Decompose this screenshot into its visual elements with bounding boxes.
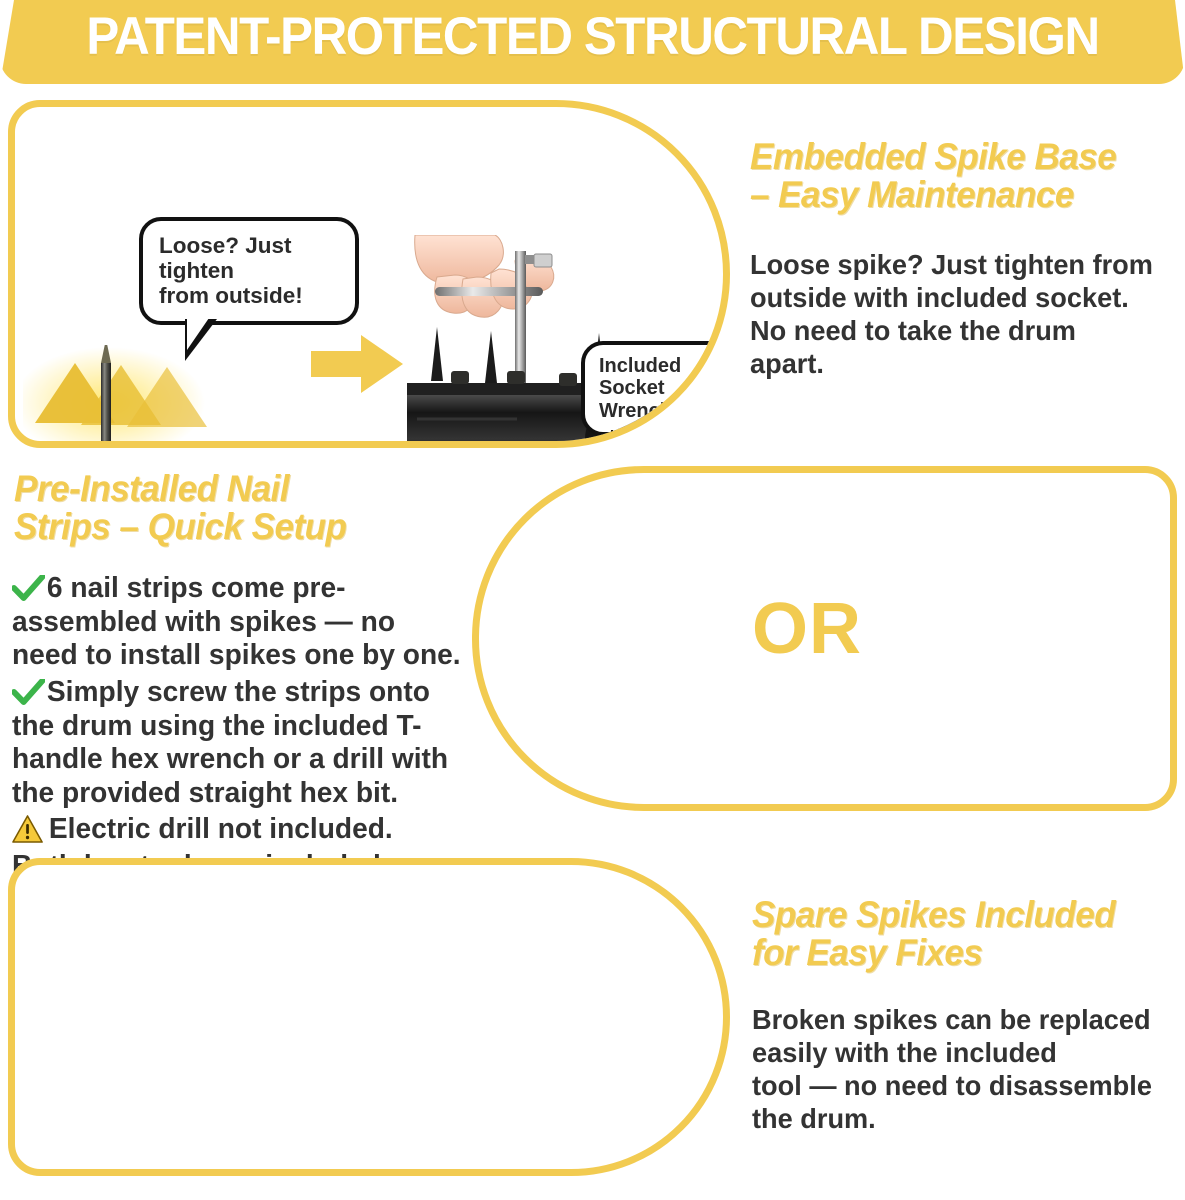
heading-line-2: – Easy Maintenance [750, 176, 1159, 214]
bubble-line-2: Wrench [599, 400, 719, 422]
heading-line-1: Embedded Spike Base [750, 138, 1159, 176]
heading-line-2: for Easy Fixes [752, 934, 1161, 972]
bubble-line-2: from outside! [159, 283, 341, 308]
heading-spare-spikes-included: Spare Spikes Included for Easy Fixes [752, 896, 1161, 972]
heading-pre-installed-nail-strips: Pre-Installed Nail Strips – Quick Setup [14, 470, 451, 546]
check-icon [12, 679, 45, 705]
speech-bubble-loose-tighten: Loose? Just tighten from outside! [139, 217, 359, 325]
body-embedded-spike-base: Loose spike? Just tighten from outside w… [750, 248, 1157, 380]
arrow-right-icon [311, 333, 403, 395]
panel-embedded-spike-base: Loose? Just tighten from outside! Includ… [8, 100, 730, 448]
heading-line-2: Strips – Quick Setup [14, 508, 451, 546]
bullet-item: Simply screw the strips onto the drum us… [12, 676, 468, 811]
body-line-1: Loose spike? Just tighten from [750, 248, 1157, 281]
or-separator-label: OR [752, 588, 862, 670]
bullets-pre-installed-nail-strips: 6 nail strips come pre-assembled with sp… [12, 572, 468, 887]
bubble-line-1: Included Socket [599, 355, 719, 400]
body-spare-spikes-included: Broken spikes can be replaced easily wit… [752, 1003, 1159, 1135]
check-icon [12, 575, 45, 601]
heading-embedded-spike-base: Embedded Spike Base – Easy Maintenance [750, 138, 1159, 214]
page-title: PATENT-PROTECTED STRUCTURAL DESIGN [41, 6, 1143, 67]
body-line-2: easily with the included [752, 1036, 1159, 1069]
bullet-item: Electric drill not included. [12, 813, 468, 847]
body-line-3: tool — no need to disassemble [752, 1069, 1159, 1102]
bubble-line-1: Loose? Just tighten [159, 233, 341, 283]
heading-line-1: Spare Spikes Included [752, 896, 1161, 934]
warning-icon [12, 815, 43, 843]
panel-1-clip: Loose? Just tighten from outside! Includ… [15, 107, 723, 441]
infographic-page: PATENT-PROTECTED STRUCTURAL DESIGN [0, 0, 1185, 1200]
bubble-tail-fill [613, 429, 630, 441]
body-line-1: Broken spikes can be replaced [752, 1003, 1159, 1036]
body-line-3: No need to take the drum apart. [750, 314, 1157, 380]
body-line-4: the drum. [752, 1102, 1159, 1135]
panel-spare-spikes-included: BROKEN [8, 858, 730, 1176]
body-line-2: outside with included socket. [750, 281, 1157, 314]
speech-bubble-socket-wrench: Included Socket Wrench [581, 341, 723, 436]
heading-line-1: Pre-Installed Nail [14, 470, 451, 508]
bullet-item: 6 nail strips come pre-assembled with sp… [12, 572, 468, 673]
bubble-tail-fill [187, 318, 209, 350]
panel-3-clip: BROKEN [15, 865, 723, 1169]
